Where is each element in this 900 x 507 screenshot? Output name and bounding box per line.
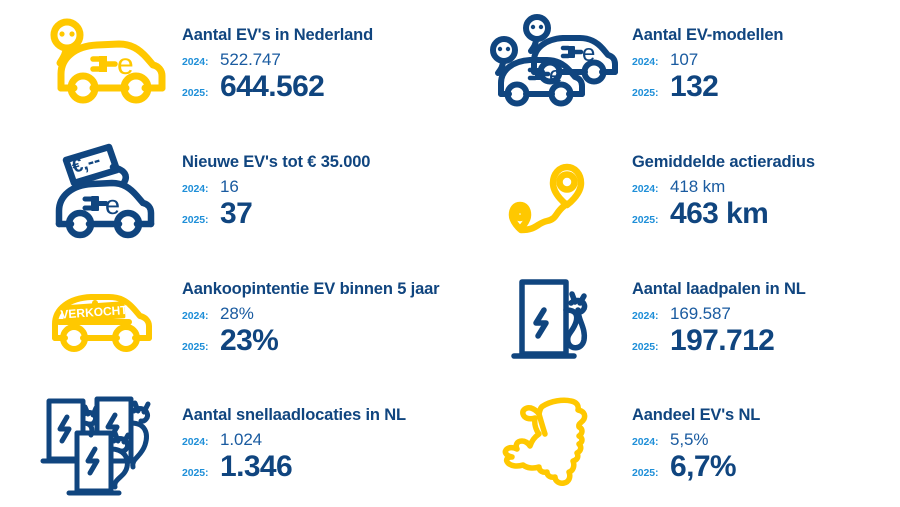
- year-label-previous: 2024:: [632, 183, 666, 195]
- stat-value-previous: 522.747: [216, 50, 281, 70]
- stat-value-previous: 169.587: [666, 304, 731, 324]
- year-label-previous: 2024:: [182, 436, 216, 448]
- stat-text-block: Aantal laadpalen in NL 2024: 169.587 202…: [626, 280, 894, 356]
- stat-title: Nieuwe EV's tot € 35.000: [182, 153, 444, 172]
- charging-station-navy-icon: [484, 266, 626, 370]
- stat-row-current-year: 2025: 1.346: [182, 451, 444, 482]
- stat-value-current: 132: [666, 71, 718, 102]
- stat-card-aantal-snellaadlocaties: Aantal snellaadlocaties in NL 2024: 1.02…: [0, 381, 450, 507]
- stat-card-aantal-evs-in-nederland: e Aantal EV's in Nederland 2024: 522.747…: [0, 0, 450, 127]
- stat-row-previous-year: 2024: 5,5%: [632, 430, 894, 450]
- stat-value-previous: 1.024: [216, 430, 262, 450]
- year-label-previous: 2024:: [182, 56, 216, 68]
- year-label-current: 2025:: [632, 467, 666, 479]
- stat-row-previous-year: 2024: 169.587: [632, 304, 894, 324]
- stat-row-current-year: 2025: 132: [632, 71, 894, 102]
- stat-text-block: Nieuwe EV's tot € 35.000 2024: 16 2025: …: [176, 153, 444, 229]
- stat-text-block: Aankoopintentie EV binnen 5 jaar 2024: 2…: [176, 280, 444, 356]
- stat-card-nieuwe-evs-tot-35000: €,-- e Nieuwe EV's tot € 35.000 2024: 16…: [0, 127, 450, 254]
- stat-value-current: 23%: [216, 325, 278, 356]
- year-label-current: 2025:: [182, 467, 216, 479]
- stat-row-current-year: 2025: 463 km: [632, 198, 894, 229]
- stat-value-current: 6,7%: [666, 451, 736, 482]
- stat-row-current-year: 2025: 197.712: [632, 325, 894, 356]
- stat-text-block: Aantal snellaadlocaties in NL 2024: 1.02…: [176, 406, 444, 482]
- ev-car-yellow-icon: e: [34, 12, 176, 116]
- stat-title: Aantal snellaadlocaties in NL: [182, 406, 444, 425]
- stat-value-previous: 418 km: [666, 177, 725, 197]
- stat-value-current: 644.562: [216, 71, 324, 102]
- sold-car-yellow-icon: VERKOCHT: [34, 266, 176, 370]
- stat-card-aankoopintentie-ev: VERKOCHT Aankoopintentie EV binnen 5 jaa…: [0, 254, 450, 381]
- stat-value-current: 1.346: [216, 451, 292, 482]
- year-label-current: 2025:: [632, 214, 666, 226]
- stat-row-previous-year: 2024: 1.024: [182, 430, 444, 450]
- route-map-pins-yellow-icon: [484, 139, 626, 243]
- year-label-current: 2025:: [182, 87, 216, 99]
- year-label-current: 2025:: [632, 341, 666, 353]
- stat-value-previous: 28%: [216, 304, 254, 324]
- stat-text-block: Aantal EV's in Nederland 2024: 522.747 2…: [176, 26, 444, 102]
- stat-row-current-year: 2025: 37: [182, 198, 444, 229]
- stat-row-current-year: 2025: 23%: [182, 325, 444, 356]
- stat-card-aantal-laadpalen: Aantal laadpalen in NL 2024: 169.587 202…: [450, 254, 900, 381]
- svg-text:e: e: [105, 190, 120, 220]
- stat-row-previous-year: 2024: 28%: [182, 304, 444, 324]
- stat-title: Aantal EV-modellen: [632, 26, 894, 45]
- stat-value-previous: 16: [216, 177, 239, 197]
- year-label-current: 2025:: [182, 341, 216, 353]
- stat-title: Aantal laadpalen in NL: [632, 280, 894, 299]
- stat-row-current-year: 2025: 644.562: [182, 71, 444, 102]
- stat-title: Aantal EV's in Nederland: [182, 26, 444, 45]
- year-label-previous: 2024:: [632, 310, 666, 322]
- stat-title: Aandeel EV's NL: [632, 406, 894, 425]
- price-tag-ev-car-navy-icon: €,-- e: [34, 139, 176, 243]
- stat-row-previous-year: 2024: 418 km: [632, 177, 894, 197]
- stat-title: Gemiddelde actieradius: [632, 153, 894, 172]
- stat-row-previous-year: 2024: 107: [632, 50, 894, 70]
- year-label-previous: 2024:: [182, 183, 216, 195]
- netherlands-map-yellow-icon: [484, 392, 626, 496]
- stat-value-previous: 107: [666, 50, 698, 70]
- stat-row-previous-year: 2024: 522.747: [182, 50, 444, 70]
- year-label-current: 2025:: [632, 87, 666, 99]
- svg-text:e: e: [117, 48, 134, 81]
- year-label-current: 2025:: [182, 214, 216, 226]
- stat-row-previous-year: 2024: 16: [182, 177, 444, 197]
- stat-text-block: Gemiddelde actieradius 2024: 418 km 2025…: [626, 153, 894, 229]
- svg-text:e: e: [549, 62, 562, 89]
- ev-statistics-infographic: e Aantal EV's in Nederland 2024: 522.747…: [0, 0, 900, 507]
- stat-row-current-year: 2025: 6,7%: [632, 451, 894, 482]
- stat-title: Aankoopintentie EV binnen 5 jaar: [182, 280, 444, 299]
- stat-value-current: 463 km: [666, 198, 768, 229]
- year-label-previous: 2024:: [182, 310, 216, 322]
- svg-text:e: e: [582, 40, 595, 67]
- stat-value-current: 197.712: [666, 325, 774, 356]
- two-ev-cars-navy-icon: e e: [484, 12, 626, 116]
- stat-card-aantal-ev-modellen: e e Aantal EV-modellen 2024: 107 2025: 1…: [450, 0, 900, 127]
- stat-value-previous: 5,5%: [666, 430, 708, 450]
- stat-card-aandeel-evs-nl: Aandeel EV's NL 2024: 5,5% 2025: 6,7%: [450, 381, 900, 507]
- year-label-previous: 2024:: [632, 56, 666, 68]
- stat-card-gemiddelde-actieradius: Gemiddelde actieradius 2024: 418 km 2025…: [450, 127, 900, 254]
- year-label-previous: 2024:: [632, 436, 666, 448]
- stat-text-block: Aantal EV-modellen 2024: 107 2025: 132: [626, 26, 894, 102]
- three-charging-stations-navy-icon: [34, 392, 176, 496]
- stat-value-current: 37: [216, 198, 252, 229]
- stat-text-block: Aandeel EV's NL 2024: 5,5% 2025: 6,7%: [626, 406, 894, 482]
